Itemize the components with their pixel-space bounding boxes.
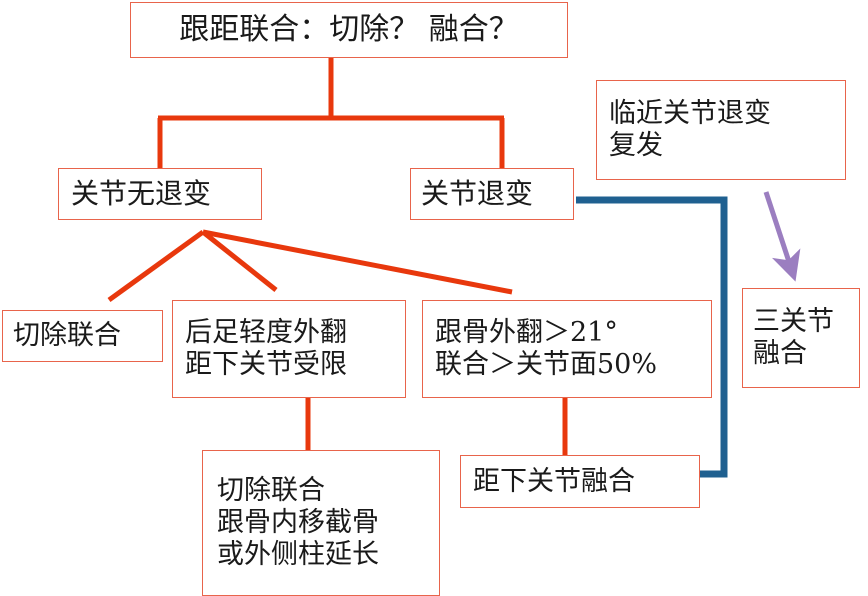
node-degeneration-line-1: 关节退变: [421, 177, 573, 210]
node-no-degeneration[interactable]: 关节无退变: [58, 168, 262, 220]
node-hindfoot-line-2: 距下关节受限: [185, 349, 405, 381]
node-no-degeneration-line-1: 关节无退变: [71, 177, 261, 210]
node-calcaneal-valgus-criteria[interactable]: 跟骨外翻＞21° 联合＞关节面50%: [422, 300, 712, 398]
node-resection-with-osteotomy[interactable]: 切除联合 跟骨内移截骨 或外侧柱延长: [202, 450, 440, 596]
node-adjacent-line-2: 复发: [609, 130, 845, 162]
node-osteotomy-line-3: 或外侧柱延长: [217, 539, 439, 571]
edge-nodeg-to-valgus: [203, 232, 512, 292]
node-hindfoot-line-1: 后足轻度外翻: [185, 317, 405, 349]
node-osteotomy-line-2: 跟骨内移截骨: [217, 507, 439, 539]
node-valgus-line-2: 联合＞关节面50%: [435, 349, 711, 381]
node-valgus-line-1: 跟骨外翻＞21°: [435, 317, 711, 349]
node-resection-coalition[interactable]: 切除联合: [2, 310, 163, 362]
edge-nodeg-to-hind: [203, 232, 276, 290]
node-title-line-1: 跟距联合：切除？ 融合？: [179, 12, 519, 47]
node-triple-arthrodesis[interactable]: 三关节 融合: [742, 288, 860, 388]
node-degeneration[interactable]: 关节退变: [410, 168, 574, 220]
node-subtalar-fusion[interactable]: 距下关节融合: [460, 455, 700, 508]
node-adjacent-line-1: 临近关节退变: [609, 98, 845, 130]
flowchart-canvas: 跟距联合：切除？ 融合？ 关节无退变 关节退变 临近关节退变 复发 切除联合 后…: [0, 0, 868, 594]
node-adjacent-joint-degeneration[interactable]: 临近关节退变 复发: [596, 80, 846, 180]
node-hindfoot-mild-valgus[interactable]: 后足轻度外翻 距下关节受限: [172, 300, 406, 398]
node-resection-line-1: 切除联合: [13, 320, 162, 352]
node-triple-line-1: 三关节: [753, 306, 859, 338]
node-subtalar-line-1: 距下关节融合: [473, 466, 699, 498]
node-osteotomy-line-1: 切除联合: [217, 475, 439, 507]
node-triple-line-2: 融合: [753, 338, 859, 370]
edge-adj-to-triple: [766, 192, 793, 274]
node-title[interactable]: 跟距联合：切除？ 融合？: [130, 2, 568, 58]
edge-nodeg-to-resect: [109, 232, 203, 300]
